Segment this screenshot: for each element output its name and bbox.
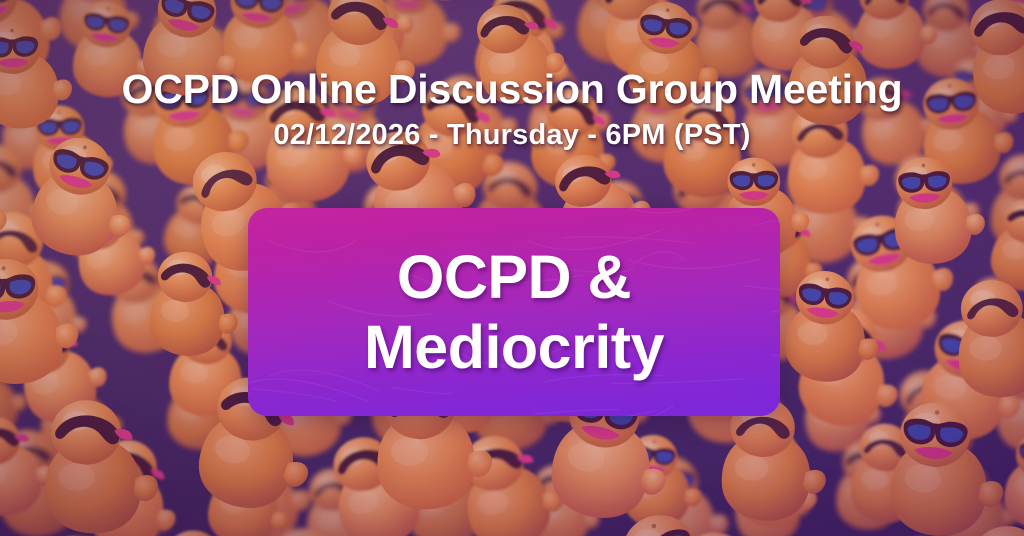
meeting-title: OCPD Online Discussion Group Meeting [0,64,1024,114]
poster-canvas: OCPD Online Discussion Group Meeting 02/… [0,0,1024,536]
meeting-datetime: 02/12/2026 - Thursday - 6PM (PST) [0,116,1024,154]
topic-card: OCPD & Mediocrity [248,208,780,416]
topic-line-1: OCPD & [397,242,631,312]
topic-line-2: Mediocrity [364,312,664,382]
poster-header: OCPD Online Discussion Group Meeting 02/… [0,64,1024,154]
